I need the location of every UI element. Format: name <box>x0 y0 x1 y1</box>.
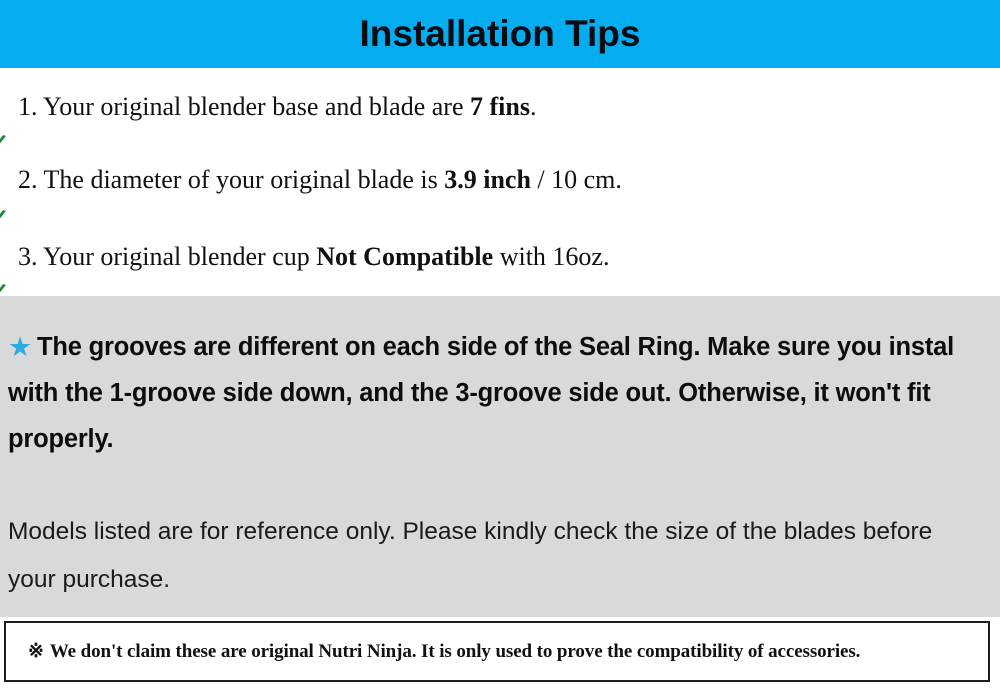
tip-item-2-lead: 2. The diameter of your original blade i… <box>18 165 444 194</box>
footnote-box: ※We don't claim these are original Nutri… <box>4 621 990 682</box>
tip-item-2: 2. The diameter of your original blade i… <box>18 165 978 195</box>
installation-tips-page: Installation Tips 1. Your original blend… <box>0 0 1000 690</box>
tip-item-1-lead: 1. Your original blender base and blade … <box>18 92 470 121</box>
notice-section: ★The grooves are different on each side … <box>0 296 1000 617</box>
tip-item-2-emphasis: 3.9 inch <box>444 165 531 194</box>
tips-section: 1. Your original blender base and blade … <box>0 68 1000 296</box>
notice-highlight-text: The grooves are different on each side o… <box>8 333 954 453</box>
notice-highlight: ★The grooves are different on each side … <box>8 324 994 462</box>
footnote-text: ※We don't claim these are original Nutri… <box>6 640 860 663</box>
tip-item-3-emphasis: Not Compatible <box>316 242 493 271</box>
tip-item-1: 1. Your original blender base and blade … <box>18 92 978 122</box>
notice-note: Models listed are for reference only. Pl… <box>8 508 984 604</box>
tip-item-1-emphasis: 7 fins <box>470 92 530 121</box>
page-title: Installation Tips <box>360 15 641 52</box>
tip-item-1-trail: . <box>530 92 537 121</box>
tip-item-2-trail: / 10 cm. <box>531 165 622 194</box>
tip-item-3: 3. Your original blender cup Not Compati… <box>18 242 978 272</box>
footnote-body: We don't claim these are original Nutri … <box>50 641 861 662</box>
tip-item-3-lead: 3. Your original blender cup <box>18 242 316 271</box>
check-mark-icon <box>0 210 7 226</box>
tip-item-3-trail: with 16oz. <box>493 242 609 271</box>
header-banner: Installation Tips <box>0 0 1000 68</box>
reference-mark-icon: ※ <box>28 641 44 662</box>
check-mark-icon <box>0 135 7 151</box>
star-icon: ★ <box>8 332 32 362</box>
